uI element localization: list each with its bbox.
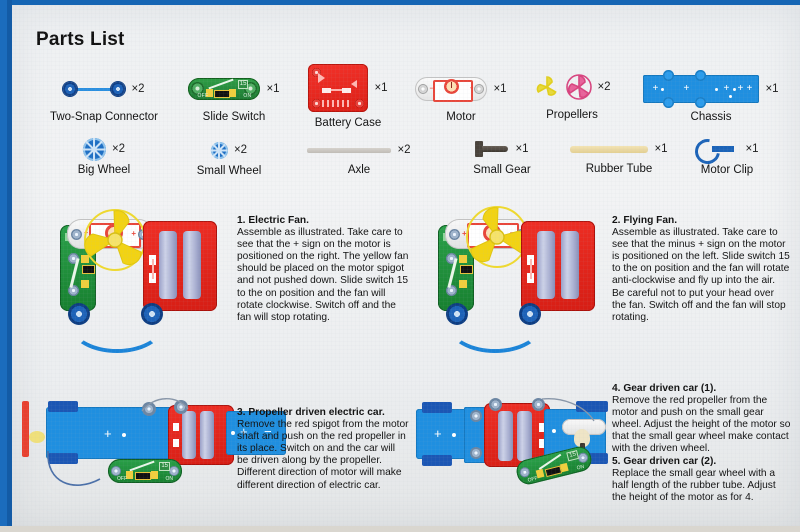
instruction-sheet: Parts List ×2 Two-Snap Connector 15 OFF … [12,5,800,529]
flying-fan-illustration: + − [435,205,610,350]
part-label: Two-Snap Connector [34,111,174,123]
part-small-wheel: ×2 Small Wheel [170,137,288,177]
instruction-body: Assemble as illustrated. Take care to se… [612,227,790,324]
part-label: Small Gear [452,164,552,176]
part-quantity: ×1 [654,143,667,155]
wheel [422,402,452,413]
propeller-icon [565,73,593,101]
battery-module [521,221,595,311]
connecting-wire [44,449,124,499]
instruction-body: Remove the red propeller from the motor … [612,395,792,455]
part-motor: − + ×1 Motor [402,69,520,123]
big-wheel-icon [83,138,106,161]
part-label: Chassis [632,111,790,123]
electric-fan-illustration: − + [57,205,232,350]
red-propeller [22,401,29,457]
instruction-block-flying-fan: 2. Flying Fan. Assemble as illustrated. … [612,215,790,324]
part-quantity: ×1 [374,82,387,94]
instruction-body: Replace the small gear wheel with a half… [612,468,792,504]
instruction-body: Assemble as illustrated. Take care to se… [237,227,409,324]
connecting-wire [71,301,163,353]
part-quantity: ×1 [493,83,506,95]
page-title: Parts List [36,29,125,51]
small-wheel-icon [211,142,228,159]
part-label: Motor [402,111,520,123]
part-big-wheel: ×2 Big Wheel [44,136,164,176]
motor-plus-sign: + [470,86,474,92]
part-quantity: ×2 [112,143,125,155]
part-rubber-tube: ×1 Rubber Tube [560,137,678,175]
part-label: Motor Clip [672,164,782,176]
part-slide-switch: 15 OFF ON ×1 Slide Switch [172,69,296,123]
part-battery-case: ×1 Battery Case [292,60,404,129]
part-quantity: ×2 [234,144,247,156]
part-small-gear: ×1 Small Gear [452,136,552,176]
slide-switch-on-label: ON [243,93,251,99]
part-label: Big Wheel [44,164,164,176]
part-label: Battery Case [292,117,404,129]
part-axle: ×2 Axle [294,138,424,176]
motor-clip-icon [695,139,739,159]
motor-icon: − + [415,77,487,101]
part-quantity: ×1 [745,143,758,155]
battery-module [143,221,217,311]
instruction-heading: 4. Gear driven car (1). [612,383,716,394]
instruction-heading: 3. Propeller driven electric car. [237,407,385,418]
propeller-car-illustration: + + − 15 OFF ON [20,397,232,502]
battery-case-icon [308,64,368,112]
part-label: Rubber Tube [560,163,678,175]
gear-car-illustration: + 15 [412,397,612,502]
two-snap-connector-icon [63,82,125,96]
axle-icon [307,148,391,153]
part-quantity: ×1 [765,83,778,95]
part-quantity: ×2 [597,81,610,93]
propeller-icon [533,73,561,101]
part-chassis: + + + + + ×1 Chassis [632,69,790,123]
instruction-heading: 1. Electric Fan. [237,215,309,226]
instruction-heading: 5. Gear driven car (2). [612,456,716,467]
part-motor-clip: ×1 Motor Clip [672,136,782,176]
part-propellers: ×2 Propellers [517,67,627,121]
part-quantity: ×2 [131,83,144,95]
slide-switch-number: 15 [238,80,249,89]
page-border-bottom [0,526,800,532]
slide-switch-icon: 15 OFF ON [188,78,260,100]
part-label: Axle [294,164,424,176]
yellow-fan-blade [83,208,147,272]
part-quantity: ×2 [397,144,410,156]
connecting-wire [449,301,541,353]
chassis-icon: + + + + + [643,75,759,103]
instruction-block-electric-fan: 1. Electric Fan. Assemble as illustrated… [237,215,409,324]
propeller-hub [29,431,45,443]
yellow-fan-blade [465,205,529,269]
wheel [48,401,78,412]
instruction-heading: 2. Flying Fan. [612,215,677,226]
part-label: Small Wheel [170,165,288,177]
instruction-block-propeller-car: 3. Propeller driven electric car. Remove… [237,407,409,492]
small-gear-icon [475,141,509,157]
wheel [422,455,452,466]
connecting-wire [540,395,602,425]
part-label: Slide Switch [172,111,296,123]
rubber-tube-icon [570,146,648,153]
page-border-left [0,0,12,532]
slide-switch-off-label: OFF [197,93,208,99]
part-two-snap-connector: ×2 Two-Snap Connector [34,69,174,123]
motor-minus-sign: − [429,86,433,92]
part-quantity: ×1 [515,143,528,155]
instruction-block-gear-cars: 4. Gear driven car (1). Remove the red p… [612,383,792,504]
connecting-wire [140,397,196,419]
instruction-body: Remove the red spigot from the motor sha… [237,419,409,492]
part-quantity: ×1 [266,83,279,95]
part-label: Propellers [517,109,627,121]
